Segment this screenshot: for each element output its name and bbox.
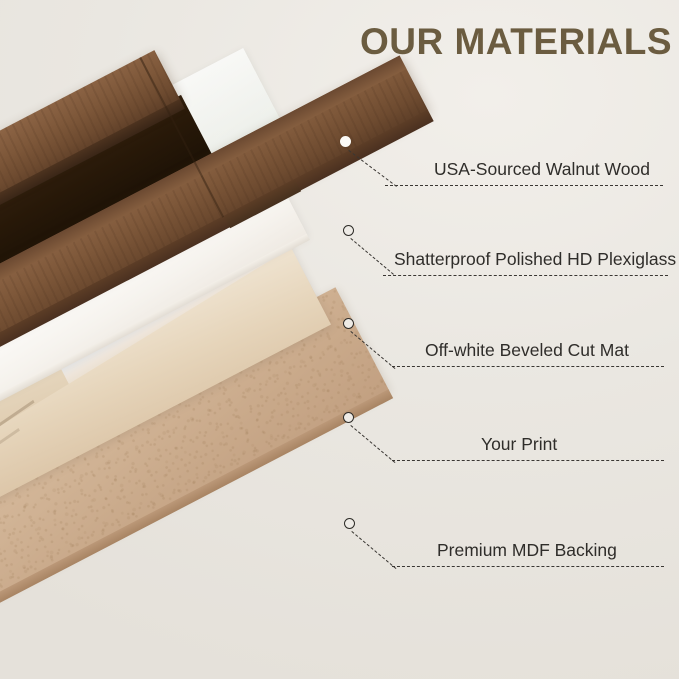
callout-underline-mdf-backing: [392, 566, 664, 567]
callout-marker-plexiglass: [343, 225, 354, 236]
callout-label-print: Your Print: [481, 434, 557, 454]
callout-underline-walnut-wood: [385, 185, 663, 186]
callout-marker-mdf-backing: [344, 518, 355, 529]
callout-label-walnut-wood: USA-Sourced Walnut Wood: [434, 159, 650, 179]
callout-underline-print: [392, 460, 664, 461]
callout-label-plexiglass: Shatterproof Polished HD Plexiglass: [394, 249, 676, 269]
callout-marker-print: [343, 412, 354, 423]
callout-label-mat: Off-white Beveled Cut Mat: [425, 340, 629, 360]
callout-label-mdf-backing: Premium MDF Backing: [437, 540, 617, 560]
page-title: OUR MATERIALS: [358, 22, 674, 62]
callout-underline-plexiglass: [383, 275, 668, 276]
callout-marker-mat: [343, 318, 354, 329]
callout-underline-mat: [392, 366, 664, 367]
product-infographic: OUR MATERIALS USA-Sourced Walnut Wood Sh…: [0, 0, 679, 679]
callout-marker-walnut-wood: [340, 136, 351, 147]
